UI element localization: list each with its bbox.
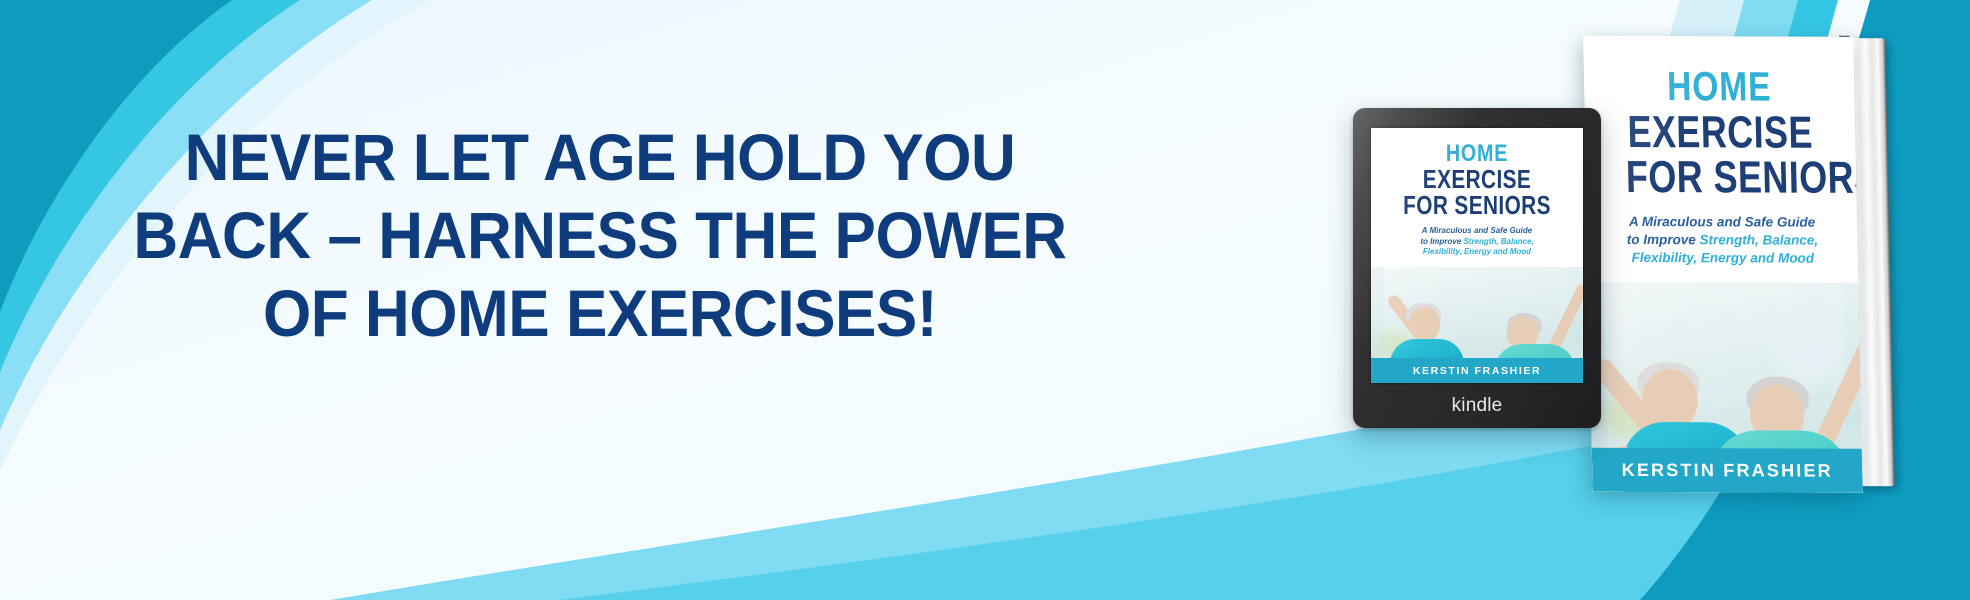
book-front-cover: HOME EXERCISE FOR SENIORS A Miraculous a… xyxy=(1583,36,1863,493)
promo-banner: NEVER LET AGE HOLD YOU BACK – HARNESS TH… xyxy=(0,0,1970,600)
kindle-title-exercise: EXERCISE xyxy=(1400,166,1554,192)
kindle-man-head xyxy=(1409,307,1440,342)
kindle-cover-artwork: HOME EXERCISE FOR SENIORS A Miraculous a… xyxy=(1371,128,1583,383)
kindle-subtitle: A Miraculous and Safe Guide to Improve S… xyxy=(1381,226,1573,267)
book-subtitle-line-2-lead: to Improve xyxy=(1627,232,1700,247)
book-cover-artwork: HOME EXERCISE FOR SENIORS A Miraculous a… xyxy=(1583,36,1863,493)
kindle-title-for-seniors: FOR SENIORS xyxy=(1400,192,1554,218)
book-subtitle-line-1: A Miraculous and Safe Guide xyxy=(1603,213,1841,232)
kindle-cover-header: HOME EXERCISE FOR SENIORS A Miraculous a… xyxy=(1371,128,1583,267)
book-subtitle: A Miraculous and Safe Guide to Improve S… xyxy=(1603,213,1843,283)
book-title-exercise: EXERCISE xyxy=(1624,109,1815,155)
kindle-author-band: KERSTIN FRASHIER xyxy=(1371,358,1583,383)
headline-line-3: OF HOME EXERCISES! xyxy=(92,274,1107,352)
kindle-device: HOME EXERCISE FOR SENIORS A Miraculous a… xyxy=(1353,108,1601,428)
kindle-subtitle-line-2-lead: to Improve xyxy=(1420,237,1463,246)
kindle-title-home: HOME xyxy=(1398,142,1555,165)
book-cover-header: HOME EXERCISE FOR SENIORS A Miraculous a… xyxy=(1583,36,1858,283)
headline: NEVER LET AGE HOLD YOU BACK – HARNESS TH… xyxy=(60,118,1140,352)
headline-line-2: BACK – HARNESS THE POWER xyxy=(92,196,1107,274)
kindle-screen: HOME EXERCISE FOR SENIORS A Miraculous a… xyxy=(1371,128,1583,383)
kindle-author-name: KERSTIN FRASHIER xyxy=(1413,365,1541,377)
book-author-band: KERSTIN FRASHIER xyxy=(1592,448,1863,493)
headline-line-1: NEVER LET AGE HOLD YOU xyxy=(92,118,1107,196)
book-subtitle-line-2: to Improve Strength, Balance, xyxy=(1603,231,1841,250)
hardcover-book: HOME EXERCISE FOR SENIORS A Miraculous a… xyxy=(1583,33,1893,501)
book-subtitle-line-2-accent: Strength, Balance, xyxy=(1699,232,1818,247)
kindle-subtitle-line-1: A Miraculous and Safe Guide xyxy=(1381,226,1573,237)
kindle-subtitle-line-2-accent: Strength, Balance, xyxy=(1463,237,1533,246)
kindle-wordmark: kindle xyxy=(1371,383,1583,428)
book-subtitle-line-3: Flexibility, Energy and Mood xyxy=(1604,249,1842,268)
book-title-home: HOME xyxy=(1621,66,1817,107)
kindle-subtitle-line-2: to Improve Strength, Balance, xyxy=(1381,237,1573,248)
book-author-name: KERSTIN FRASHIER xyxy=(1621,459,1833,481)
kindle-subtitle-line-3: Flexibility, Energy and Mood xyxy=(1381,247,1573,258)
book-title-for-seniors: FOR SENIORS xyxy=(1625,154,1816,200)
